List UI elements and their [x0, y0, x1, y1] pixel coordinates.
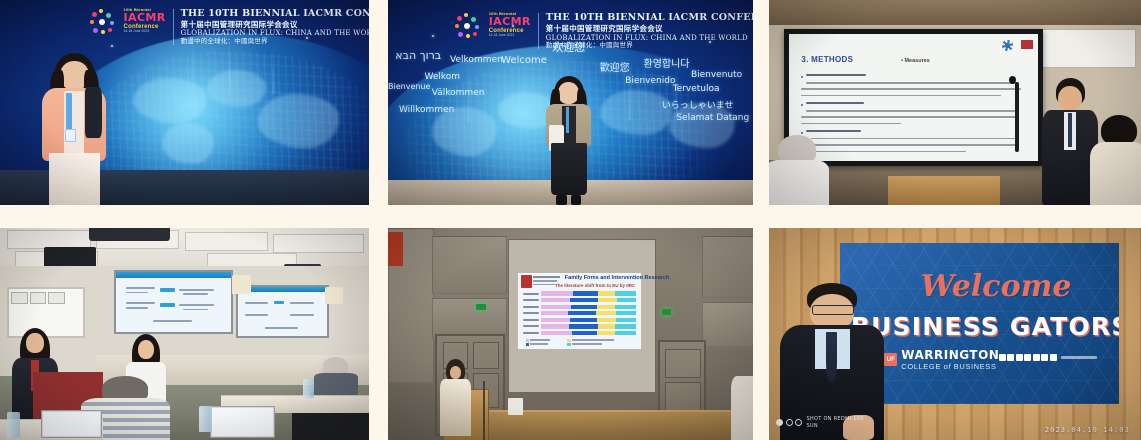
photo-2[interactable]: 10th Biennial IACMR Conference 14-18 Jun…: [388, 0, 753, 205]
bar-segment: [598, 291, 615, 295]
bar-segment: [615, 331, 636, 335]
welcome-word: Tervetuloa: [673, 84, 720, 94]
projector-mount: [89, 228, 170, 241]
youtube-icon: [1024, 354, 1031, 361]
wall-lamp: [232, 275, 250, 294]
bar-row: [541, 298, 636, 302]
iacmr-logo-wordmark: 10th Biennial IACMR Conference 14-18 Jun…: [489, 12, 531, 37]
welcome-word: Welcome: [501, 55, 547, 66]
welcome-word: Welkom: [425, 72, 461, 82]
laptop: [41, 410, 102, 437]
bar-segment: [541, 318, 570, 322]
photo-1-image: 10th Biennial IACMR Conference 14-18 Jun…: [0, 0, 369, 205]
bar-segment: [616, 311, 636, 315]
banner-theme-zh: 動盪中的全球化：中國與世界: [181, 38, 369, 46]
welcome-word: Bienvenido: [625, 76, 675, 86]
microphone-stand: [1015, 82, 1019, 152]
red-banner: [388, 232, 403, 266]
photo-1[interactable]: 10th Biennial IACMR Conference 14-18 Jun…: [0, 0, 369, 205]
photo-2-image: 10th Biennial IACMR Conference 14-18 Jun…: [388, 0, 753, 205]
college-of-business-line: COLLEGE of BUSINESS: [901, 363, 999, 371]
person-audience: [1089, 115, 1141, 205]
bar-segment: [616, 318, 636, 322]
person-speaker: [439, 359, 472, 435]
welcome-word: ברוך הבא: [395, 49, 441, 62]
bar-segment: [597, 331, 615, 335]
flickr-icon: [1050, 354, 1057, 361]
person-presenter: [30, 53, 119, 205]
instagram-icon: [1033, 354, 1040, 361]
slide-subtitle: The literature shift from to EU by IIRC: [555, 283, 635, 288]
slide-title: Family Firms and Intervention Research: [565, 275, 670, 281]
water-bottle: [7, 412, 20, 437]
person-audience: [314, 357, 358, 395]
photo-3[interactable]: 3. METHODS • Measures: [769, 0, 1141, 205]
watermark-line-2: SUN: [806, 423, 864, 430]
landmass-shape: [258, 94, 339, 147]
welcome-word: Bienvenue: [388, 82, 430, 91]
bar-segment: [572, 331, 597, 335]
laptop: [210, 406, 275, 438]
bar-segment: [573, 291, 598, 295]
whiteboard: [1037, 29, 1136, 68]
social-icons: [999, 354, 1098, 361]
person-audience: [731, 376, 753, 440]
photo-4-image: [0, 228, 369, 440]
stage: [483, 410, 753, 440]
welcome-word: Bienvenuto: [691, 70, 742, 80]
logo-line-4: 14-18 June 2023: [489, 34, 531, 37]
slide: Family Firms and Intervention Research T…: [518, 273, 641, 349]
landmass-shape: [207, 70, 266, 107]
banner-title-zh: 第十届中国管理研究国际学会会议: [546, 24, 753, 33]
pinterest-icon: [1041, 354, 1048, 361]
welcome-word: 欢迎您: [552, 39, 585, 55]
floor-stand: [483, 381, 485, 440]
iacmr-logo-wordmark: 10th Biennial IACMR Conference 14-18 Jun…: [124, 8, 166, 33]
bar-segment: [596, 311, 616, 315]
slide-heading: 3. METHODS: [801, 55, 853, 64]
banner-text: THE 10TH BIENNIAL IACMR CONFERENCE 第十届中国…: [181, 8, 369, 46]
bar-segment: [571, 305, 597, 309]
warrington-logo: UF WARRINGTON COLLEGE of BUSINESS: [884, 349, 999, 370]
logo-line-2: IACMR: [489, 16, 531, 28]
welcome-word: Välkommen: [432, 88, 485, 98]
gear-logo-icon: [1002, 40, 1013, 51]
watermark-line-1: SHOT ON REDMI 10X: [806, 416, 864, 423]
logo-line-2: IACMR: [124, 12, 166, 24]
divider: [173, 9, 174, 45]
banner-title-en: THE 10TH BIENNIAL IACMR CONFERENCE: [181, 8, 369, 20]
uf-badge: UF: [884, 353, 897, 366]
wall-sign: [30, 292, 47, 305]
bar-segment: [615, 324, 636, 328]
bar-row: [541, 331, 636, 335]
camera-watermark: SHOT ON REDMI 10X SUN: [776, 416, 864, 430]
welcome-word: いらっしゃいませ: [662, 98, 734, 111]
banner-title-en: THE 10TH BIENNIAL IACMR CONFERENCE.: [546, 12, 753, 24]
bar-row: [541, 324, 636, 328]
upper-wall: [769, 0, 1141, 25]
bar-segment: [569, 324, 598, 328]
bar-segment: [541, 311, 568, 315]
photo-6[interactable]: Welcome BUSINESS GATORS! UF WARRINGTON C…: [769, 228, 1141, 440]
bar-label: [523, 312, 539, 314]
wall-sign: [48, 292, 65, 305]
photo-5-image: Family Firms and Intervention Research T…: [388, 228, 753, 440]
bar-row: [541, 311, 636, 315]
banner-title-zh: 第十届中国管理研究国际学会会议: [181, 20, 369, 29]
bar-segment: [598, 324, 615, 328]
watermark-text: SHOT ON REDMI 10X SUN: [806, 416, 864, 430]
light-beam: [273, 41, 274, 94]
bar-label: [523, 293, 539, 295]
welcome-word: 환영합니다: [644, 55, 690, 70]
bar-label: [523, 299, 539, 301]
divider: [538, 13, 539, 49]
bar-segment: [541, 305, 571, 309]
linkedin-icon: [1016, 354, 1023, 361]
photo-5[interactable]: Family Firms and Intervention Research T…: [388, 228, 753, 440]
bar-row: [541, 291, 636, 295]
bar-label: [523, 306, 539, 308]
bar-segment: [541, 298, 569, 302]
wall-sign: [11, 292, 28, 305]
bar-row: [541, 305, 636, 309]
iacmr-logo-dots: [89, 8, 117, 38]
iacmr-logo: [89, 8, 117, 38]
photo-4[interactable]: [0, 228, 369, 440]
bar-segment: [597, 305, 615, 309]
bar-segment: [615, 305, 636, 309]
banner-welcome-text: Welcome: [921, 269, 1072, 304]
iacmr-logo: [454, 12, 482, 42]
watermark-dots-icon: [776, 419, 802, 426]
eyeglasses-icon: [812, 305, 854, 315]
slide-bullet: • Measures: [901, 58, 930, 64]
bar-label: [523, 325, 539, 327]
side-table: [508, 398, 523, 415]
bar-segment: [617, 298, 636, 302]
bar-segment: [615, 291, 636, 295]
bar-label: [523, 332, 539, 334]
banner-theme-en: GLOBALIZATION IN FLUX: CHINA AND THE WOR…: [181, 29, 369, 38]
landmass-shape: [162, 123, 214, 164]
bar-chart: [523, 291, 636, 337]
bar-segment: [568, 311, 596, 315]
twitter-icon: [1007, 354, 1014, 361]
bar-segment: [597, 318, 616, 322]
wall-lamp: [325, 287, 343, 304]
welcome-word: 歡迎您: [600, 59, 630, 74]
bar-label: [523, 319, 539, 321]
banner-headline: BUSINESS GATORS!: [851, 312, 1119, 341]
photo-3-image: 3. METHODS • Measures: [769, 0, 1141, 205]
logo-line-4: 14-18 June 2023: [124, 30, 166, 33]
banner-header: 10th Biennial IACMR Conference 14-18 Jun…: [89, 8, 369, 46]
water-bottle: [303, 379, 314, 398]
photo-6-image: Welcome BUSINESS GATORS! UF WARRINGTON C…: [769, 228, 1141, 440]
bar-segment: [541, 291, 573, 295]
photo-timestamp: 2023.04.19 14:03: [1045, 426, 1130, 434]
person-attendee: [538, 76, 600, 205]
bar-segment: [570, 318, 597, 322]
person-audience: [769, 135, 829, 205]
welcome-word: Willkommen: [399, 105, 454, 115]
iacmr-logo-dots: [454, 12, 482, 42]
welcome-word: Velkommen: [450, 55, 503, 65]
projection-screen: Family Firms and Intervention Research T…: [508, 239, 656, 394]
exit-sign: [662, 309, 671, 315]
exit-sign: [476, 304, 486, 310]
water-bottle: [199, 406, 212, 431]
photo-grid: 10th Biennial IACMR Conference 14-18 Jun…: [0, 0, 1141, 440]
university-logo: [1021, 40, 1033, 49]
bar-row: [541, 318, 636, 322]
projection-screen-left: [114, 270, 232, 333]
warrington-wordmark: WARRINGTON: [901, 349, 999, 361]
bar-segment: [541, 331, 572, 335]
welcome-word: Selamat Datang: [676, 113, 749, 123]
facebook-icon: [999, 354, 1006, 361]
bar-segment: [541, 324, 568, 328]
microphone-head-icon: [1009, 76, 1016, 84]
bar-segment: [570, 298, 598, 302]
podium: [888, 176, 1000, 205]
institution-logo: [521, 275, 532, 287]
social-handle: [1061, 356, 1097, 359]
bar-segment: [598, 298, 617, 302]
banner-header: 10th Biennial IACMR Conference 14-18 Jun…: [454, 12, 753, 50]
